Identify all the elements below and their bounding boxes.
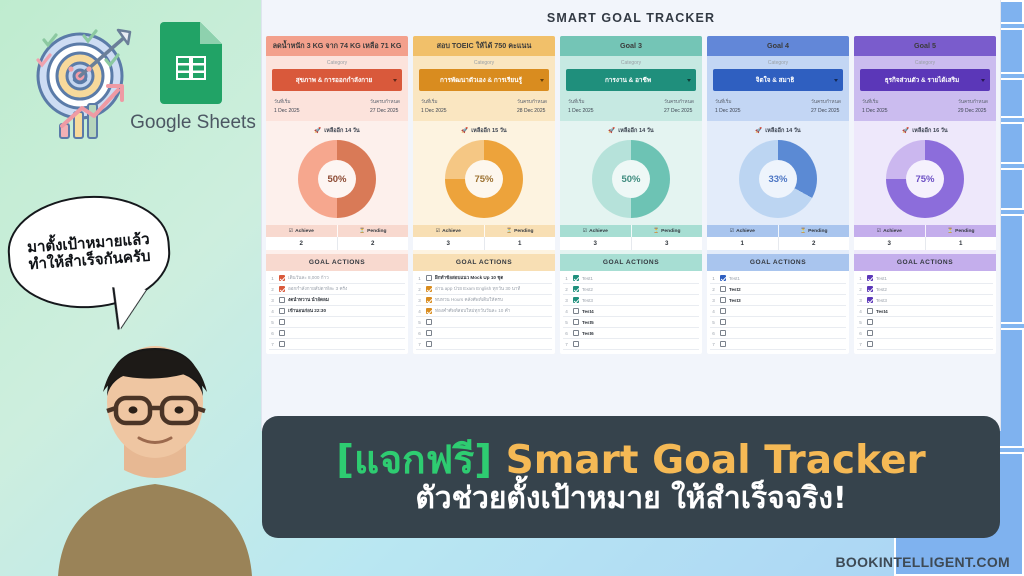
- goal-card-meta: Category ธุรกิจส่วนตัว & รายได้เสริม วัน…: [854, 56, 996, 121]
- action-text[interactable]: งดน้ำหวาน น้ำอัดลม: [288, 297, 329, 304]
- date-range: วันที่เริ่ม 1 Dec 2025 วันครบกำหนด 27 De…: [566, 98, 696, 114]
- goal-action-row: 2 ออกกำลังกายสัปดาห์ละ 3 ครั้ง: [269, 284, 405, 295]
- row-number: 4: [269, 309, 276, 314]
- date-range: วันที่เริ่ม 1 Dec 2025 วันครบกำหนด 28 De…: [419, 98, 549, 114]
- action-text[interactable]: Test4: [876, 309, 888, 314]
- category-label: Category: [566, 60, 696, 66]
- row-number: 7: [563, 342, 570, 347]
- pending-count: 2: [338, 237, 409, 250]
- site-url: BOOKINTELLIGENT.COM: [836, 554, 1010, 570]
- promo-banner: [แจกฟรี] Smart Goal Tracker ตัวช่วยตั้งเ…: [262, 416, 1000, 538]
- hourglass-icon: ⏳: [506, 228, 512, 234]
- goal-action-row: 1 Test1: [857, 273, 993, 284]
- goal-action-row: 5: [416, 317, 552, 328]
- progress-donut: 75%: [445, 140, 523, 218]
- action-checkbox[interactable]: [279, 308, 285, 314]
- goal-action-row: 2 อ่าน app ป่วย Exam English ทุกวัน 30 น…: [416, 284, 552, 295]
- action-checkbox[interactable]: [426, 297, 432, 303]
- action-checkbox[interactable]: [573, 341, 579, 347]
- category-value: ธุรกิจส่วนตัว & รายได้เสริม: [885, 75, 960, 85]
- hourglass-icon: ⏳: [359, 228, 365, 234]
- end-date-group: วันครบกำหนด 27 Dec 2025: [370, 98, 400, 114]
- goal-actions-list: 1 Test1 2 Test2 3 Test3 4 Test4 5 6 7: [854, 271, 996, 354]
- progress-donut: 33%: [739, 140, 817, 218]
- start-date-value[interactable]: 1 Dec 2025: [274, 108, 300, 114]
- action-text[interactable]: Test3: [876, 298, 887, 303]
- goal-card: ลดน้ำหนัก 3 KG จาก 74 KG เหลือ 71 KG Cat…: [266, 36, 408, 354]
- goal-action-row: 1 ฝึกทำข้อสอบแนว Mock Up 10 ชุด: [416, 273, 552, 284]
- rocket-icon: 🚀: [314, 128, 321, 134]
- start-date-group: วันที่เริ่ม 1 Dec 2025: [715, 98, 741, 114]
- action-checkbox[interactable]: [867, 319, 873, 325]
- start-date-value[interactable]: 1 Dec 2025: [421, 108, 447, 114]
- action-checkbox[interactable]: [426, 308, 432, 314]
- achieve-count: 2: [266, 237, 338, 250]
- action-checkbox[interactable]: [573, 319, 579, 325]
- stats-header-row: ☑Achieve ⏳Pending: [266, 225, 408, 237]
- stats-value-row: 3 3: [560, 237, 702, 250]
- goal-action-row: 4: [710, 306, 846, 317]
- stats-value-row: 2 2: [266, 237, 408, 250]
- days-remaining: 🚀 เหลืออีก 14 วัน: [707, 127, 849, 135]
- goal-action-row: 4 Test4: [563, 306, 699, 317]
- category-select[interactable]: การงาน & อาชีพ: [566, 69, 696, 91]
- row-number: 3: [857, 298, 864, 303]
- action-text[interactable]: อ่าน app ป่วย Exam English ทุกวัน 30 นาท…: [435, 286, 520, 293]
- action-checkbox[interactable]: [867, 330, 873, 336]
- row-number: 2: [416, 287, 423, 292]
- start-date-label: วันที่เริ่ม: [421, 98, 447, 106]
- goal-card-title: สอบ TOEIC ให้ได้ 750 คะแนน: [413, 36, 555, 56]
- goal-card-body: 🚀 เหลืออีก 15 วัน 75% ☑Achieve ⏳Pending: [413, 121, 555, 354]
- banner-title: Smart Goal Tracker: [506, 438, 926, 483]
- pending-header: ⏳Pending: [485, 225, 556, 237]
- goal-card: Goal 4 Category จิตใจ & สมาธิ วันที่เริ่…: [707, 36, 849, 354]
- days-remaining: 🚀 เหลืออีก 14 วัน: [266, 127, 408, 135]
- goal-action-row: 5: [269, 317, 405, 328]
- goal-actions-list: 1 Test1 2 Test2 3 Test3 4 5 6 7: [707, 271, 849, 354]
- stats-value-row: 3 1: [854, 237, 996, 250]
- goal-action-row: 1 เดินวันละ 8,000 ก้าว: [269, 273, 405, 284]
- action-checkbox[interactable]: [867, 297, 873, 303]
- category-value: จิตใจ & สมาธิ: [756, 75, 795, 85]
- action-checkbox[interactable]: [867, 286, 873, 292]
- days-remaining: 🚀 เหลืออีก 14 วัน: [560, 127, 702, 135]
- action-checkbox[interactable]: [720, 308, 726, 314]
- action-checkbox[interactable]: [279, 275, 285, 281]
- goal-actions-list: 1 เดินวันละ 8,000 ก้าว 2 ออกกำลังกายสัปด…: [266, 271, 408, 354]
- speech-bubble: มาตั้งเป้าหมายแล้ว ทำให้สำเร็จกันครับ: [4, 190, 173, 313]
- end-date-group: วันครบกำหนด 28 Dec 2025: [517, 98, 547, 114]
- progress-percent: 33%: [759, 160, 797, 198]
- achieve-count: 3: [413, 237, 485, 250]
- start-date-label: วันที่เริ่ม: [862, 98, 888, 106]
- row-number: 5: [710, 320, 717, 325]
- row-number: 6: [857, 331, 864, 336]
- banner-headline: [แจกฟรี] Smart Goal Tracker: [336, 441, 926, 480]
- action-text[interactable]: Test3: [729, 298, 741, 303]
- action-text[interactable]: ทบทวน Hours คลังศัพท์เดิมให้ครบ: [435, 297, 503, 304]
- row-number: 3: [269, 298, 276, 303]
- start-date-group: วันที่เริ่ม 1 Dec 2025: [568, 98, 594, 114]
- action-text[interactable]: Test5: [582, 320, 594, 325]
- start-date-group: วันที่เริ่ม 1 Dec 2025: [862, 98, 888, 114]
- row-number: 1: [857, 276, 864, 281]
- pending-count: 1: [485, 237, 556, 250]
- action-text[interactable]: Test4: [582, 309, 594, 314]
- goal-actions-title: GOAL ACTIONS: [413, 254, 555, 271]
- goal-card-title: Goal 3: [560, 36, 702, 56]
- achieve-count: 3: [854, 237, 926, 250]
- goal-action-row: 3 งดน้ำหวาน น้ำอัดลม: [269, 295, 405, 306]
- banner-subtitle: ตัวช่วยตั้งเป้าหมาย ให้สำเร็จจริง!: [415, 483, 846, 515]
- achieve-header: ☑Achieve: [266, 225, 338, 237]
- category-label: Category: [860, 60, 990, 66]
- row-number: 7: [269, 342, 276, 347]
- goal-action-row: 2 Test2: [710, 284, 846, 295]
- goal-action-row: 4 เข้านอนก่อน 22:30: [269, 306, 405, 317]
- goal-card-meta: Category การงาน & อาชีพ วันที่เริ่ม 1 De…: [560, 56, 702, 121]
- chevron-down-icon: [540, 79, 544, 82]
- goal-actions-title: GOAL ACTIONS: [266, 254, 408, 271]
- action-checkbox[interactable]: [867, 308, 873, 314]
- goal-card-title: ลดน้ำหนัก 3 KG จาก 74 KG เหลือ 71 KG: [266, 36, 408, 56]
- progress-donut-wrap: 75%: [854, 140, 996, 218]
- row-number: 6: [563, 331, 570, 336]
- page-title: SMART GOAL TRACKER: [262, 0, 1000, 36]
- achieve-count: 1: [707, 237, 779, 250]
- stats-value-row: 1 2: [707, 237, 849, 250]
- stats-table: ☑Achieve ⏳Pending 3 1: [854, 225, 996, 250]
- goal-card-meta: Category การพัฒนาตัวเอง & การเรียนรู้ วั…: [413, 56, 555, 121]
- goal-action-row: 5: [857, 317, 993, 328]
- check-badge-icon: ☑: [436, 228, 440, 234]
- days-remaining-text: เหลืออีก 14 วัน: [618, 127, 653, 135]
- progress-donut-wrap: 50%: [560, 140, 702, 218]
- progress-percent: 75%: [906, 160, 944, 198]
- row-number: 1: [563, 276, 570, 281]
- action-checkbox[interactable]: [573, 275, 579, 281]
- google-sheets-icon: [160, 22, 222, 104]
- goal-card-title: Goal 5: [854, 36, 996, 56]
- action-checkbox[interactable]: [426, 286, 432, 292]
- row-number: 4: [563, 309, 570, 314]
- goal-actions-title: GOAL ACTIONS: [854, 254, 996, 271]
- end-date-label: วันครบกำหนด: [958, 98, 988, 106]
- action-checkbox[interactable]: [867, 341, 873, 347]
- stats-header-row: ☑Achieve ⏳Pending: [854, 225, 996, 237]
- google-sheets-wordmark: Google Sheets: [128, 112, 258, 134]
- end-date-label: วันครบกำหนด: [664, 98, 694, 106]
- days-remaining: 🚀 เหลืออีก 15 วัน: [413, 127, 555, 135]
- goal-action-row: 7: [269, 339, 405, 350]
- goal-action-row: 4 Test4: [857, 306, 993, 317]
- end-date-value[interactable]: 29 Dec 2025: [958, 108, 988, 114]
- row-number: 7: [857, 342, 864, 347]
- start-date-value[interactable]: 1 Dec 2025: [568, 108, 594, 114]
- goal-action-row: 6: [710, 328, 846, 339]
- date-range: วันที่เริ่ม 1 Dec 2025 วันครบกำหนด 29 De…: [860, 98, 990, 114]
- action-checkbox[interactable]: [426, 341, 432, 347]
- progress-donut-wrap: 75%: [413, 140, 555, 218]
- category-select[interactable]: สุขภาพ & การออกกำลังกาย: [272, 69, 402, 91]
- goal-action-row: 5: [710, 317, 846, 328]
- rocket-icon: 🚀: [755, 128, 762, 134]
- start-date-group: วันที่เริ่ม 1 Dec 2025: [274, 98, 300, 114]
- chevron-down-icon: [981, 79, 985, 82]
- row-number: 7: [710, 342, 717, 347]
- action-checkbox[interactable]: [720, 330, 726, 336]
- goal-card: สอบ TOEIC ให้ได้ 750 คะแนน Category การพ…: [413, 36, 555, 354]
- hourglass-icon: ⏳: [947, 228, 953, 234]
- chevron-down-icon: [393, 79, 397, 82]
- progress-donut-wrap: 50%: [266, 140, 408, 218]
- action-text[interactable]: Test3: [582, 298, 593, 303]
- pending-count: 1: [926, 237, 997, 250]
- pending-count: 2: [779, 237, 850, 250]
- row-number: 3: [710, 298, 717, 303]
- row-number: 1: [710, 276, 717, 281]
- row-number: 5: [563, 320, 570, 325]
- action-text[interactable]: ออกกำลังกายสัปดาห์ละ 3 ครั้ง: [288, 286, 347, 293]
- goal-action-row: 7: [563, 339, 699, 350]
- goal-action-row: 3 ทบทวน Hours คลังศัพท์เดิมให้ครบ: [416, 295, 552, 306]
- goal-actions-list: 1 Test1 2 Test2 3 Test3 4 Test4 5 Test5 …: [560, 271, 702, 354]
- days-remaining: 🚀 เหลืออีก 16 วัน: [854, 127, 996, 135]
- goal-card-body: 🚀 เหลืออีก 14 วัน 50% ☑Achieve ⏳Pending: [266, 121, 408, 354]
- row-number: 2: [269, 287, 276, 292]
- action-text[interactable]: ท่องคำศัพท์สอบใหม่ทุกวันวันละ 10 คำ: [435, 308, 510, 315]
- goal-action-row: 6: [416, 328, 552, 339]
- category-value: การงาน & อาชีพ: [605, 75, 651, 85]
- category-select[interactable]: จิตใจ & สมาธิ: [713, 69, 843, 91]
- action-text[interactable]: Test2: [876, 287, 887, 292]
- goal-card-title: Goal 4: [707, 36, 849, 56]
- banner-free-tag: [แจกฟรี]: [336, 438, 492, 483]
- progress-donut: 50%: [592, 140, 670, 218]
- action-checkbox[interactable]: [573, 286, 579, 292]
- row-number: 2: [857, 287, 864, 292]
- end-date-value[interactable]: 27 Dec 2025: [370, 108, 400, 114]
- goal-action-row: 7: [710, 339, 846, 350]
- achieve-header: ☑Achieve: [560, 225, 632, 237]
- rocket-icon: 🚀: [608, 128, 615, 134]
- action-checkbox[interactable]: [573, 308, 579, 314]
- stats-table: ☑Achieve ⏳Pending 3 1: [413, 225, 555, 250]
- check-badge-icon: ☑: [730, 228, 734, 234]
- action-text[interactable]: Test1: [876, 276, 887, 281]
- presenter-photo: [40, 320, 270, 576]
- category-label: Category: [272, 60, 402, 66]
- action-text[interactable]: เดินวันละ 8,000 ก้าว: [288, 275, 329, 282]
- progress-percent: 75%: [465, 160, 503, 198]
- goal-action-row: 6: [269, 328, 405, 339]
- row-number: 4: [416, 309, 423, 314]
- goal-action-row: 7: [857, 339, 993, 350]
- stats-header-row: ☑Achieve ⏳Pending: [707, 225, 849, 237]
- goal-action-row: 5 Test5: [563, 317, 699, 328]
- chevron-down-icon: [834, 79, 838, 82]
- row-number: 5: [416, 320, 423, 325]
- action-checkbox[interactable]: [279, 330, 285, 336]
- end-date-value[interactable]: 28 Dec 2025: [517, 108, 547, 114]
- days-remaining-text: เหลืออีก 14 วัน: [765, 127, 800, 135]
- action-text[interactable]: ฝึกทำข้อสอบแนว Mock Up 10 ชุด: [435, 275, 503, 282]
- stats-value-row: 3 1: [413, 237, 555, 250]
- goal-action-row: 4 ท่องคำศัพท์สอบใหม่ทุกวันวันละ 10 คำ: [416, 306, 552, 317]
- row-number: 5: [269, 320, 276, 325]
- end-date-group: วันครบกำหนด 29 Dec 2025: [958, 98, 988, 114]
- stats-header-row: ☑Achieve ⏳Pending: [413, 225, 555, 237]
- end-date-label: วันครบกำหนด: [370, 98, 400, 106]
- goal-action-row: 1 Test1: [710, 273, 846, 284]
- progress-donut-wrap: 33%: [707, 140, 849, 218]
- goal-action-row: 6 Test6: [563, 328, 699, 339]
- goal-card-meta: Category สุขภาพ & การออกกำลังกาย วันที่เ…: [266, 56, 408, 121]
- action-checkbox[interactable]: [573, 297, 579, 303]
- row-number: 4: [710, 309, 717, 314]
- progress-donut: 50%: [298, 140, 376, 218]
- end-date-group: วันครบกำหนด 27 Dec 2025: [664, 98, 694, 114]
- pending-header: ⏳Pending: [338, 225, 409, 237]
- goal-action-row: 2 Test2: [563, 284, 699, 295]
- date-range: วันที่เริ่ม 1 Dec 2025 วันครบกำหนด 27 De…: [272, 98, 402, 114]
- achieve-header: ☑Achieve: [707, 225, 779, 237]
- goal-action-row: 3 Test3: [563, 295, 699, 306]
- chevron-down-icon: [687, 79, 691, 82]
- action-text[interactable]: Test6: [582, 331, 594, 336]
- action-checkbox[interactable]: [426, 319, 432, 325]
- goal-action-row: 3 Test3: [857, 295, 993, 306]
- row-number: 3: [416, 298, 423, 303]
- row-number: 4: [857, 309, 864, 314]
- start-date-group: วันที่เริ่ม 1 Dec 2025: [421, 98, 447, 114]
- start-date-value[interactable]: 1 Dec 2025: [715, 108, 741, 114]
- days-remaining-text: เหลืออีก 16 วัน: [912, 127, 947, 135]
- days-remaining-text: เหลืออีก 14 วัน: [324, 127, 359, 135]
- category-select[interactable]: ธุรกิจส่วนตัว & รายได้เสริม: [860, 69, 990, 91]
- end-date-value[interactable]: 27 Dec 2025: [664, 108, 694, 114]
- action-checkbox[interactable]: [279, 286, 285, 292]
- end-date-label: วันครบกำหนด: [811, 98, 841, 106]
- action-checkbox[interactable]: [720, 341, 726, 347]
- action-text[interactable]: Test1: [729, 276, 740, 281]
- goal-card: Goal 5 Category ธุรกิจส่วนตัว & รายได้เส…: [854, 36, 996, 354]
- goal-card-body: 🚀 เหลืออีก 16 วัน 75% ☑Achieve ⏳Pending: [854, 121, 996, 354]
- achieve-count: 3: [560, 237, 632, 250]
- pending-header: ⏳Pending: [926, 225, 997, 237]
- start-date-value[interactable]: 1 Dec 2025: [862, 108, 888, 114]
- action-text[interactable]: Test1: [582, 276, 593, 281]
- action-checkbox[interactable]: [426, 330, 432, 336]
- row-number: 6: [269, 331, 276, 336]
- goal-actions-list: 1 ฝึกทำข้อสอบแนว Mock Up 10 ชุด 2 อ่าน a…: [413, 271, 555, 354]
- start-date-label: วันที่เริ่ม: [568, 98, 594, 106]
- start-date-label: วันที่เริ่ม: [274, 98, 300, 106]
- goal-action-row: 1 Test1: [563, 273, 699, 284]
- row-number: 6: [416, 331, 423, 336]
- end-date-value[interactable]: 27 Dec 2025: [811, 108, 841, 114]
- stats-table: ☑Achieve ⏳Pending 2 2: [266, 225, 408, 250]
- check-badge-icon: ☑: [877, 228, 881, 234]
- pending-header: ⏳Pending: [632, 225, 703, 237]
- goal-actions-title: GOAL ACTIONS: [707, 254, 849, 271]
- progress-percent: 50%: [612, 160, 650, 198]
- action-checkbox[interactable]: [720, 297, 726, 303]
- goal-action-row: 7: [416, 339, 552, 350]
- goal-action-row: 3 Test3: [710, 295, 846, 306]
- row-number: 2: [563, 287, 570, 292]
- stats-header-row: ☑Achieve ⏳Pending: [560, 225, 702, 237]
- category-select[interactable]: การพัฒนาตัวเอง & การเรียนรู้: [419, 69, 549, 91]
- date-range: วันที่เริ่ม 1 Dec 2025 วันครบกำหนด 27 De…: [713, 98, 843, 114]
- goal-actions-title: GOAL ACTIONS: [560, 254, 702, 271]
- end-date-group: วันครบกำหนด 27 Dec 2025: [811, 98, 841, 114]
- action-text[interactable]: เข้านอนก่อน 22:30: [288, 308, 326, 315]
- action-checkbox[interactable]: [720, 275, 726, 281]
- action-checkbox[interactable]: [279, 341, 285, 347]
- action-text[interactable]: Test2: [729, 287, 741, 292]
- check-badge-icon: ☑: [583, 228, 587, 234]
- action-checkbox[interactable]: [720, 286, 726, 292]
- action-checkbox[interactable]: [867, 275, 873, 281]
- progress-percent: 50%: [318, 160, 356, 198]
- rocket-icon: 🚀: [902, 128, 909, 134]
- achieve-header: ☑Achieve: [413, 225, 485, 237]
- action-checkbox[interactable]: [279, 297, 285, 303]
- start-date-label: วันที่เริ่ม: [715, 98, 741, 106]
- category-label: Category: [713, 60, 843, 66]
- goal-action-row: 6: [857, 328, 993, 339]
- category-value: สุขภาพ & การออกกำลังกาย: [296, 75, 373, 85]
- days-remaining-text: เหลืออีก 15 วัน: [471, 127, 506, 135]
- pending-header: ⏳Pending: [779, 225, 850, 237]
- goal-card-body: 🚀 เหลืออีก 14 วัน 50% ☑Achieve ⏳Pending: [560, 121, 702, 354]
- goal-card: Goal 3 Category การงาน & อาชีพ วันที่เริ…: [560, 36, 702, 354]
- pending-count: 3: [632, 237, 703, 250]
- row-number: 7: [416, 342, 423, 347]
- action-checkbox[interactable]: [426, 275, 432, 281]
- goal-cards-container: ลดน้ำหนัก 3 KG จาก 74 KG เหลือ 71 KG Cat…: [262, 36, 1000, 354]
- action-checkbox[interactable]: [279, 319, 285, 325]
- hourglass-icon: ⏳: [800, 228, 806, 234]
- stats-table: ☑Achieve ⏳Pending 1 2: [707, 225, 849, 250]
- category-label: Category: [419, 60, 549, 66]
- achieve-header: ☑Achieve: [854, 225, 926, 237]
- goal-card-body: 🚀 เหลืออีก 14 วัน 33% ☑Achieve ⏳Pending: [707, 121, 849, 354]
- hourglass-icon: ⏳: [653, 228, 659, 234]
- action-checkbox[interactable]: [573, 330, 579, 336]
- row-number: 6: [710, 331, 717, 336]
- goal-card-meta: Category จิตใจ & สมาธิ วันที่เริ่ม 1 Dec…: [707, 56, 849, 121]
- end-date-label: วันครบกำหนด: [517, 98, 547, 106]
- check-badge-icon: ☑: [289, 228, 293, 234]
- goal-action-row: 2 Test2: [857, 284, 993, 295]
- row-number: 3: [563, 298, 570, 303]
- progress-donut: 75%: [886, 140, 964, 218]
- row-number: 1: [269, 276, 276, 281]
- spreadsheet-panel: SMART GOAL TRACKER ลดน้ำหนัก 3 KG จาก 74…: [262, 0, 1000, 430]
- action-checkbox[interactable]: [720, 319, 726, 325]
- stats-table: ☑Achieve ⏳Pending 3 3: [560, 225, 702, 250]
- row-number: 1: [416, 276, 423, 281]
- category-value: การพัฒนาตัวเอง & การเรียนรู้: [440, 75, 522, 85]
- rocket-icon: 🚀: [461, 128, 468, 134]
- row-number: 5: [857, 320, 864, 325]
- action-text[interactable]: Test2: [582, 287, 593, 292]
- row-number: 2: [710, 287, 717, 292]
